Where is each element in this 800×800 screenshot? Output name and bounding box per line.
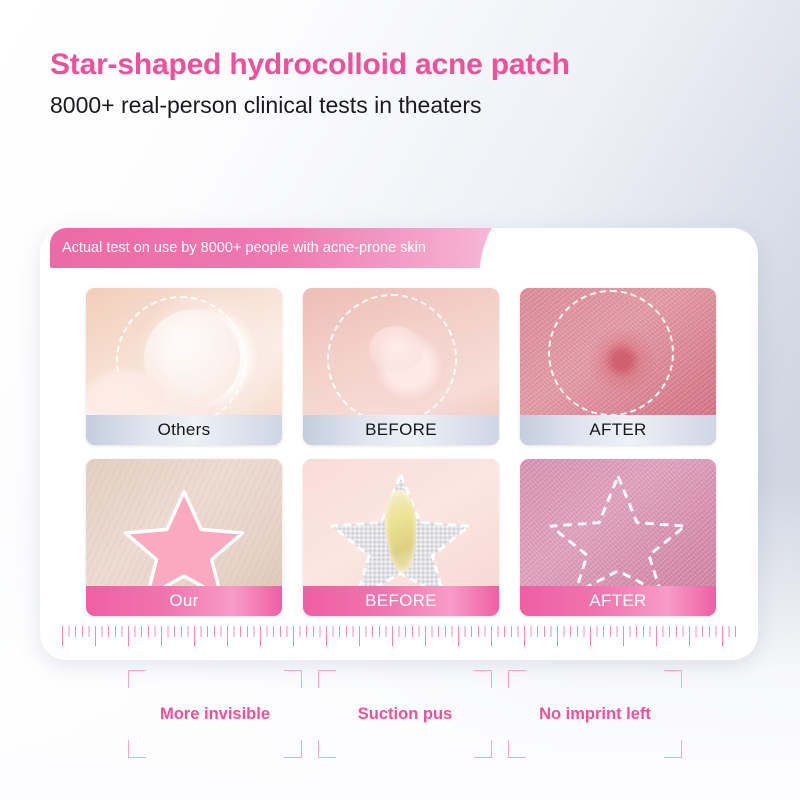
bracket-corner-icon [284,670,302,688]
feature-label: More invisible [160,705,270,724]
grid-cell: BEFORE [303,459,499,616]
grid-cell: Others [86,288,282,445]
ruler-strip [62,626,736,650]
cell-caption: Our [86,586,282,616]
ribbon-label: Actual test on use by 8000+ people with … [62,228,532,268]
bracket-corner-icon [128,740,146,758]
bracket-corner-icon [474,740,492,758]
feature-label: No imprint left [539,705,651,724]
bracket-corner-icon [284,740,302,758]
feature-label: Suction pus [358,705,452,724]
cell-caption: BEFORE [303,586,499,616]
page-title: Star-shaped hydrocolloid acne patch [50,48,570,81]
bracket-corner-icon [474,670,492,688]
acne-bump-shape [369,326,423,372]
page-subtitle: 8000+ real-person clinical tests in thea… [50,93,570,118]
bracket-corner-icon [664,670,682,688]
bracket-corner-icon [508,740,526,758]
grid-cell: BEFORE [303,288,499,445]
heading-block: Star-shaped hydrocolloid acne patch 8000… [50,48,570,118]
grid-cell: AFTER [520,459,716,616]
product-infographic: Star-shaped hydrocolloid acne patch 8000… [0,0,800,800]
grid-cell: AFTER [520,288,716,445]
bracket-corner-icon [508,670,526,688]
bracket-corner-icon [318,670,336,688]
photo-grid: Others BEFORE AFTER Our [86,288,716,616]
dashed-circle-icon [548,290,674,416]
cell-caption: Others [86,415,282,445]
cell-caption: AFTER [520,586,716,616]
bracket-corner-icon [128,670,146,688]
feature-item: More invisible [120,668,310,760]
cell-caption: AFTER [520,415,716,445]
bracket-corner-icon [664,740,682,758]
feature-item: Suction pus [310,668,500,760]
feature-item: No imprint left [500,668,690,760]
cell-caption: BEFORE [303,415,499,445]
bracket-corner-icon [318,740,336,758]
feature-callouts: More invisible Suction pus No imprint le… [120,668,690,760]
grid-cell: Our [86,459,282,616]
